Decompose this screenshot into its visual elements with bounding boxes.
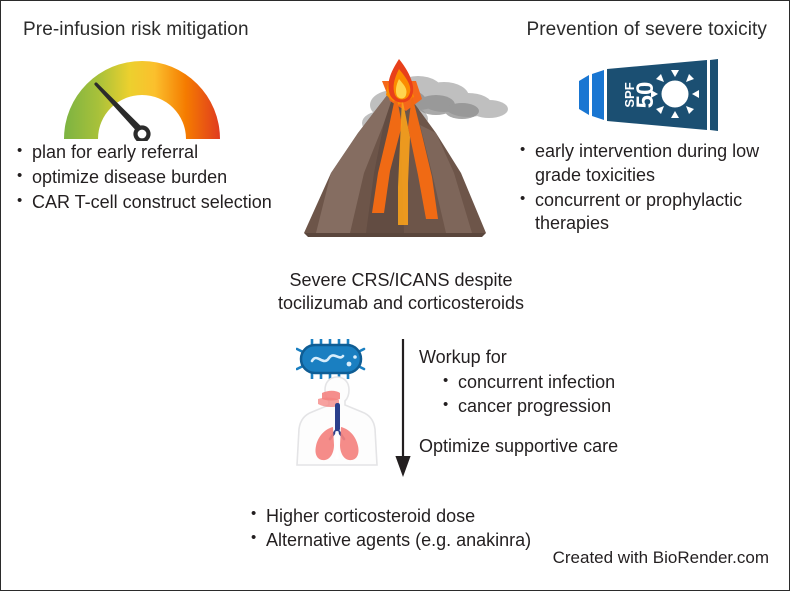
workup-lead: Workup for <box>419 346 649 369</box>
center-caption-line2: tocilizumab and corticosteroids <box>246 292 556 315</box>
list-item: cancer progression <box>443 395 649 418</box>
risk-gauge-icon <box>58 49 226 141</box>
list-item: concurrent or prophylactic therapies <box>520 189 788 237</box>
sunscreen-tube-icon: SPF 50 <box>573 55 725 135</box>
left-panel-bullets: plan for early referral optimize disease… <box>17 141 317 215</box>
biorender-credit: Created with BioRender.com <box>553 548 769 568</box>
center-caption: Severe CRS/ICANS despite tocilizumab and… <box>246 269 556 316</box>
left-panel-heading: Pre-infusion risk mitigation <box>23 19 249 41</box>
erupting-volcano-icon <box>286 53 516 268</box>
figure-canvas: Pre-infusion risk mitigation <box>0 0 790 591</box>
workup-bullets: concurrent infection cancer progression <box>419 371 649 418</box>
list-item: plan for early referral <box>17 141 317 165</box>
workup-text-block: Workup for concurrent infection cancer p… <box>419 346 649 459</box>
list-item: concurrent infection <box>443 371 649 394</box>
list-item: Higher corticosteroid dose <box>251 504 581 528</box>
right-panel-bullets: early intervention during low grade toxi… <box>520 140 788 237</box>
list-item: optimize disease burden <box>17 166 317 190</box>
center-caption-line1: Severe CRS/ICANS despite <box>246 269 556 292</box>
list-item: CAR T-cell construct selection <box>17 191 317 215</box>
list-item: early intervention during low grade toxi… <box>520 140 788 188</box>
human-lungs-icon <box>292 373 382 467</box>
right-panel-heading: Prevention of severe toxicity <box>526 19 767 41</box>
down-arrow-icon <box>393 339 421 479</box>
list-item: Alternative agents (e.g. anakinra) <box>251 528 581 552</box>
outcome-bullets: Higher corticosteroid dose Alternative a… <box>251 504 581 552</box>
optimize-supportive-care-text: Optimize supportive care <box>419 435 649 458</box>
